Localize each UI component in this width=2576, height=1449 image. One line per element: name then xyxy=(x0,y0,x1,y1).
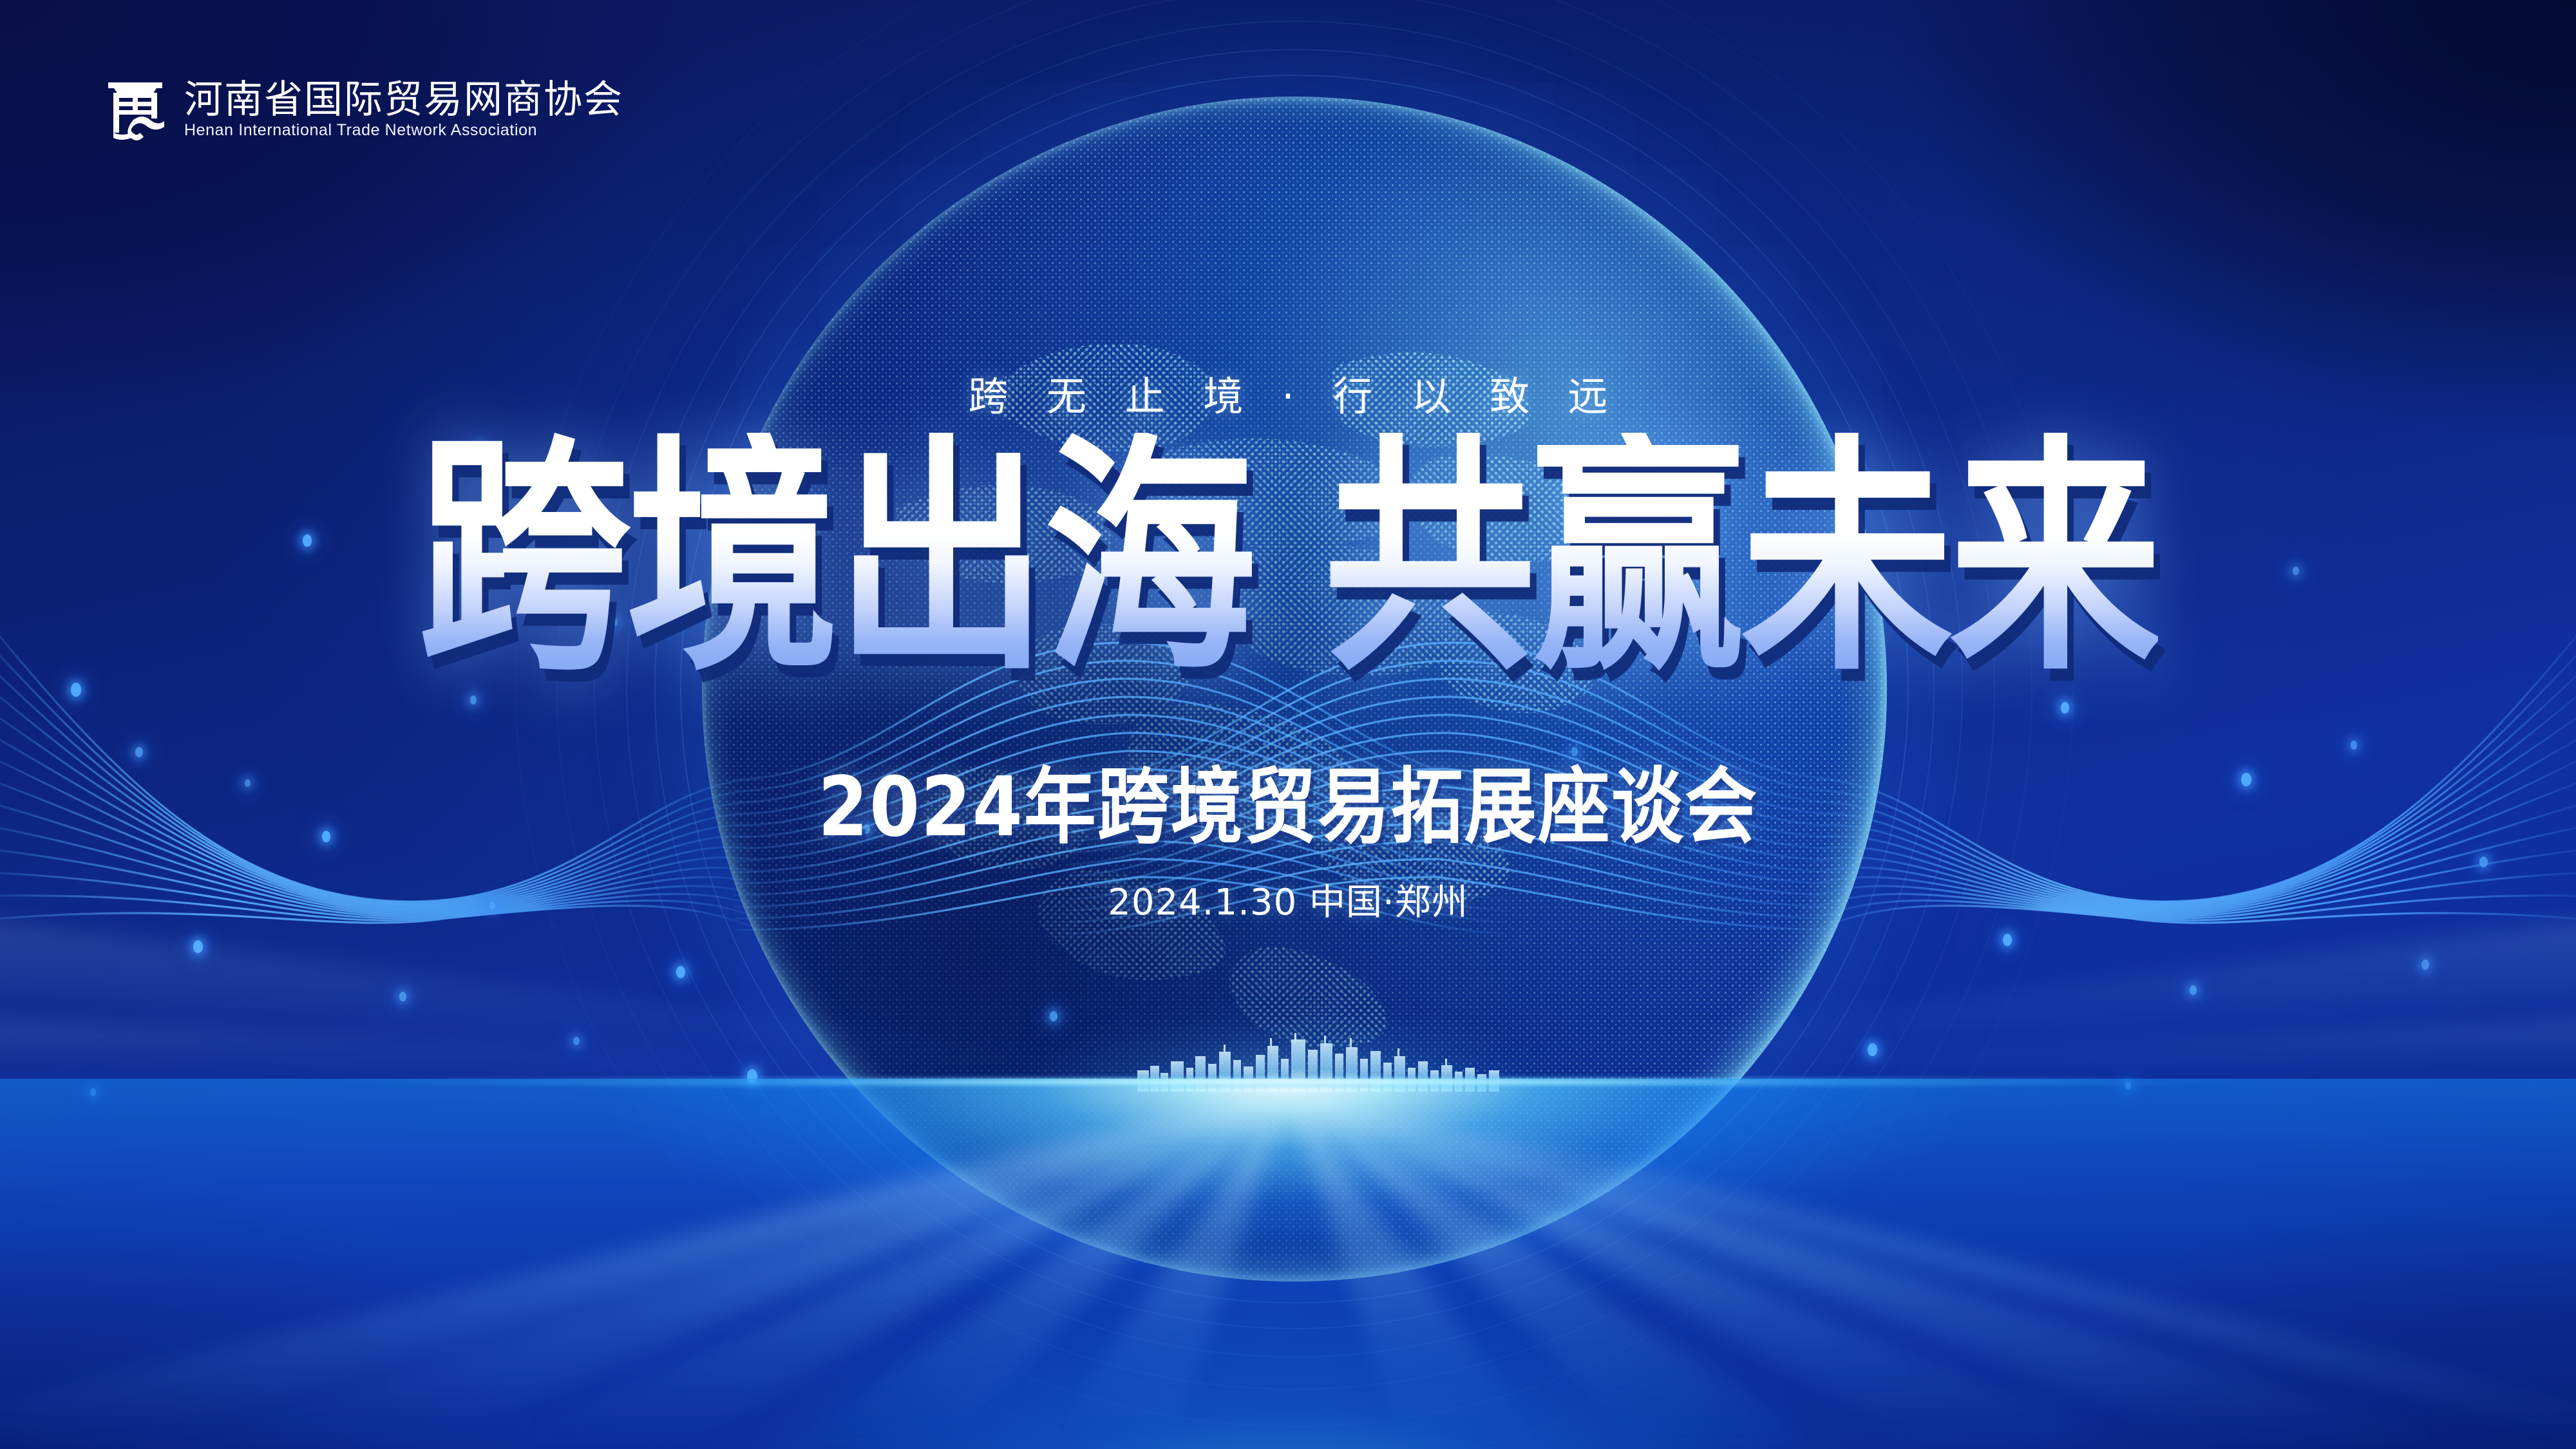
association-name-en: Henan International Trade Network Associ… xyxy=(184,122,623,138)
event-headline: 跨境出海共赢未来 xyxy=(0,433,2576,645)
association-logo: 河南省国际贸易网商协会 Henan International Trade Ne… xyxy=(103,77,623,142)
association-name-cn: 河南省国际贸易网商协会 xyxy=(184,80,623,119)
seal-emblem-icon xyxy=(103,77,167,142)
logo-text-block: 河南省国际贸易网商协会 Henan International Trade Ne… xyxy=(184,80,623,138)
event-tagline: 跨 无 止 境 · 行 以 致 远 xyxy=(0,364,2576,422)
headline-phrase-1: 跨境出海 xyxy=(418,433,1253,683)
headline-phrase-2: 共赢未来 xyxy=(1323,433,2158,683)
event-subtitle: 2024年跨境贸易拓展座谈会 xyxy=(0,766,2576,849)
poster-content: 河南省国际贸易网商协会 Henan International Trade Ne… xyxy=(0,0,2576,1449)
event-date-location: 2024.1.30 中国·郑州 xyxy=(0,885,2576,921)
event-poster: 河南省国际贸易网商协会 Henan International Trade Ne… xyxy=(0,0,2576,1449)
